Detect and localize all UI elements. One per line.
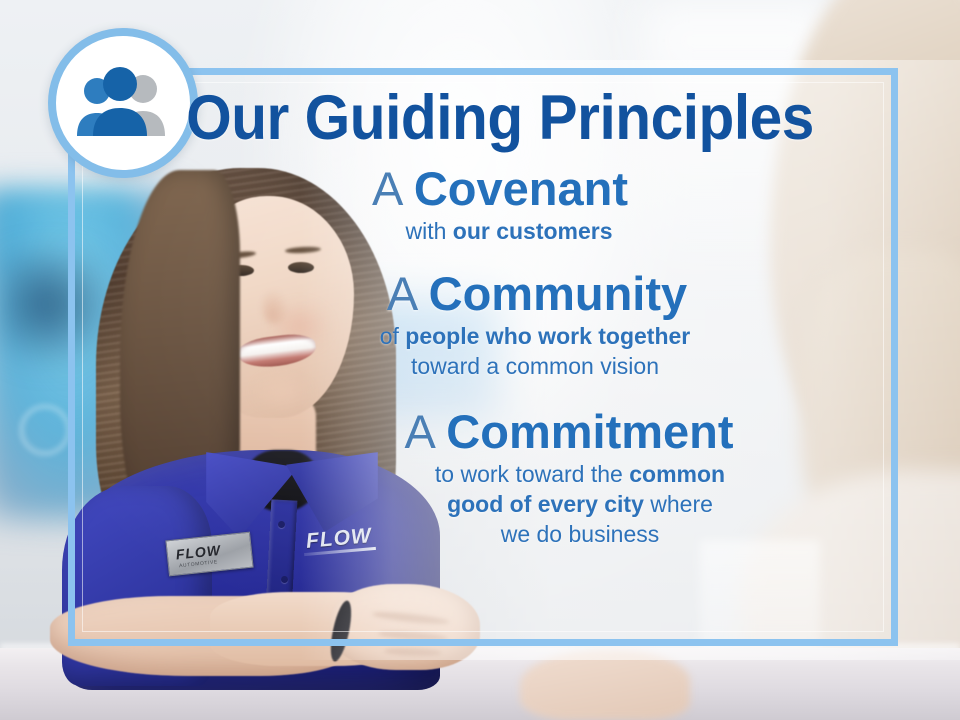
principle-2-word: Community: [429, 267, 688, 320]
woman-clasped-hands: [330, 584, 480, 670]
principle-2-subtext: of people who work togethertoward a comm…: [190, 322, 880, 382]
principle-2-heading: A Community: [194, 269, 880, 320]
background-car-emblem: [20, 405, 70, 455]
principle-community: A Community of people who work togethert…: [120, 269, 880, 382]
principle-1-subtext: with our customers: [138, 217, 880, 247]
principle-covenant: A Covenant with our customers: [120, 164, 880, 247]
principle-2-article: A: [387, 267, 416, 320]
principle-3-word: Commitment: [446, 405, 733, 458]
principle-3-heading: A Commitment: [258, 407, 880, 458]
principle-1-word: Covenant: [414, 162, 628, 215]
principle-commitment: A Commitment to work toward the commongo…: [120, 407, 880, 549]
page-title: Our Guiding Principles: [147, 86, 854, 150]
background-person-hand: [520, 650, 690, 720]
principle-1-heading: A Covenant: [120, 164, 880, 215]
guiding-principles-graphic: FLOW AUTOMOTIVE FLOW: [0, 0, 960, 720]
principle-3-article: A: [404, 405, 433, 458]
principle-1-article: A: [372, 162, 401, 215]
copy-block: Our Guiding Principles A Covenant with o…: [120, 86, 880, 550]
polo-button-bottom: [281, 576, 288, 583]
principle-3-subtext: to work toward the commongood of every c…: [280, 460, 880, 550]
